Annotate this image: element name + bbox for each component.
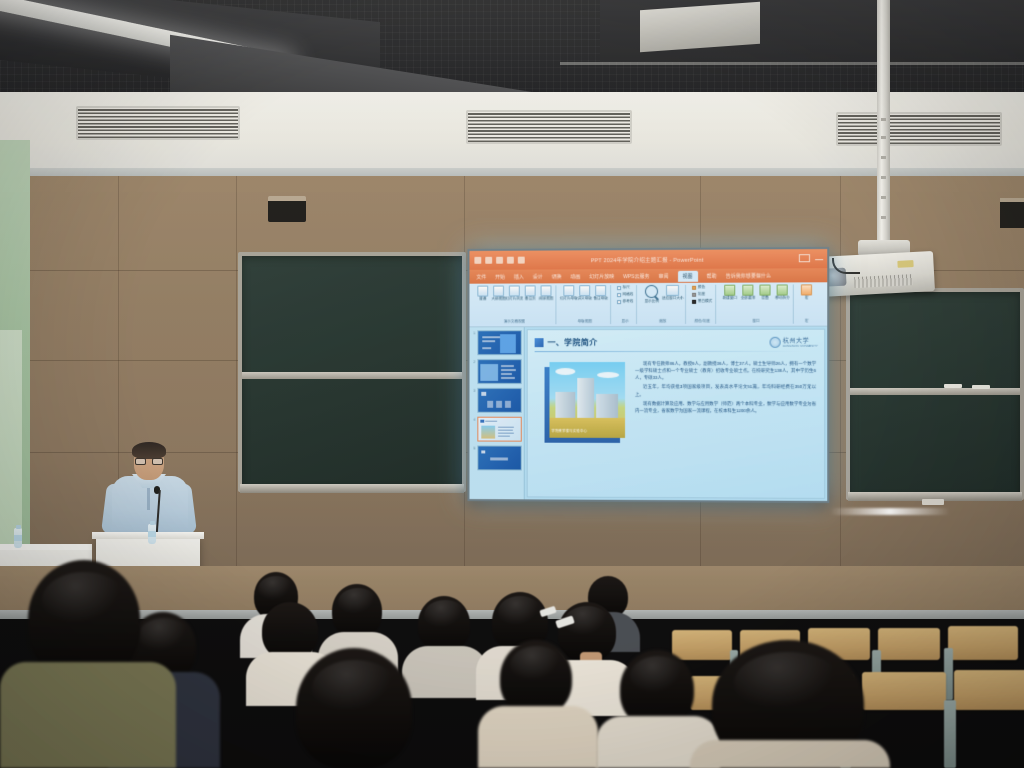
color-button[interactable]: 颜色 [692,285,705,290]
photo-caption: 学院教学楼与实验中心 [551,428,587,433]
building-tower-icon [577,378,594,418]
projector-mount-pole [877,0,890,246]
thumbnail-item[interactable]: 4 [471,417,521,442]
projector-vent-icon [854,274,912,288]
wall-speaker-right-icon [1000,198,1024,228]
macros-button[interactable]: 宏 [800,284,813,306]
outline-view-icon [493,286,504,297]
macro-icon [801,284,812,295]
campus-building-photo: 学院教学楼与实验中心 [549,362,625,438]
ppt-workspace: 1 2 [469,327,827,501]
current-slide[interactable]: 一、学院简介 杭州大学 HANGZHOU UNIVERSITY [527,329,826,499]
thumbnail-slide-5[interactable] [477,445,521,470]
lecture-hall-photo: PPT 2024年学院介绍主题汇报 - PowerPoint 文件 开始 插入 … [0,0,1024,768]
ribbon-group-label-window: 窗口 [752,319,759,324]
thumbnail-item[interactable]: 2 [471,359,521,384]
move-split-button[interactable]: 移动拆分 [775,284,790,306]
ppt-titlebar: PPT 2024年学院介绍主题汇报 - PowerPoint [469,249,827,270]
tab-transitions[interactable]: 切换 [552,273,562,280]
slide-sorter-icon [509,285,520,296]
tab-tell-me[interactable]: 告诉我你想要做什么 [726,272,771,279]
hvac-vent-left-icon [76,106,240,140]
ceiling-duct [640,2,760,52]
notes-master-button[interactable]: 备注母版 [594,285,607,307]
slide-title[interactable]: 一、学院简介 [535,337,598,348]
new-window-icon [724,285,735,296]
ribbon-group-presentation-views: 普通 大纲视图 幻灯片浏览 备注页 [473,285,556,324]
tab-insert[interactable]: 插入 [514,273,524,280]
thumbnail-slide-4[interactable] [477,417,521,442]
slide-paragraph-2: 近五年，年均获批3项国家级项目，发表高水平论文51篇，年均科研经费在350万元以… [635,383,816,397]
arrange-all-button[interactable]: 全部重排 [740,285,755,307]
hvac-vent-right-icon [836,112,1002,146]
grayscale-button[interactable]: 灰度 [692,292,705,297]
notes-master-icon [595,285,606,296]
tab-home[interactable]: 开始 [495,273,505,280]
blackwhite-button[interactable]: 黑白模式 [692,299,712,304]
slide-editing-area[interactable]: 一、学院简介 杭州大学 HANGZHOU UNIVERSITY [525,327,828,501]
tab-slideshow[interactable]: 幻灯片放映 [589,273,614,280]
presenter-glasses-icon [135,458,163,465]
gridlines-checkbox[interactable]: 网格线 [617,292,633,297]
ribbon-group-label-macros: 宏 [805,319,809,324]
seat[interactable] [948,626,1018,660]
move-split-icon [777,284,788,295]
slide-master-icon [563,285,574,296]
ribbon-group-label-zoom: 缩放 [659,319,666,324]
ribbon-group-color-grayscale: 颜色 灰度 黑白模式 颜色/灰度 [689,285,716,324]
slide-paragraph-3: 现有数据计算及应用、数学与应用数学（师范）两个本科专业，数学与应用数学专业为省内… [635,400,816,415]
slide-thumbnail-panel[interactable]: 1 2 [469,327,524,499]
ppt-window-title: PPT 2024年学院介绍主题汇报 - PowerPoint [469,255,827,265]
water-bottle-podium [148,524,156,544]
seat[interactable] [862,672,946,710]
ruler-checkbox[interactable]: 标尺 [617,285,630,290]
ribbon-group-macros: 宏 宏 [797,284,816,323]
close-icon[interactable] [815,259,823,260]
ppt-ribbon-tabs: 文件 开始 插入 设计 切换 动画 幻灯片放映 WPS云服务 审阅 视图 帮助 … [469,268,827,284]
projector-indicator-icon [897,260,913,268]
ribbon-group-label-presentation-views: 演示文稿视图 [504,319,525,324]
tab-help[interactable]: 帮助 [707,272,717,279]
building-right-icon [596,394,618,418]
wall-speaker-icon [268,196,306,222]
water-bottle-left [14,528,22,548]
cascade-button[interactable]: 层叠 [759,285,772,307]
tab-design[interactable]: 设计 [533,273,543,280]
view-sorter-button[interactable]: 幻灯片浏览 [508,285,521,307]
ribbon-group-master-views: 幻灯片母版 讲义母版 备注母版 母版视图 [559,285,611,324]
slide-photo[interactable]: 学院教学楼与实验中心 [549,362,625,438]
thumbnail-slide-2[interactable] [477,359,521,384]
ribbon-group-label-master-views: 母版视图 [578,319,592,324]
guides-checkbox[interactable]: 参考线 [617,299,633,304]
ribbon-group-zoom: 显示比例 适应窗口大小 缩放 [640,285,686,324]
tab-view[interactable]: 视图 [678,270,698,281]
university-name-en: HANGZHOU UNIVERSITY [783,345,818,348]
normal-view-icon [477,286,488,297]
color-icon [692,285,696,289]
university-seal-icon [770,336,781,347]
grayscale-icon [692,292,696,296]
restore-icon[interactable] [799,254,810,262]
tab-file[interactable]: 文件 [476,273,486,280]
slide-body-text[interactable]: 现有专任教师86人，教授9人，副教授36人，博士37人，硕士生导师26人，拥有一… [635,360,816,416]
chalkboard-right [846,288,1024,500]
ceiling-strip-light [830,508,950,515]
new-window-button[interactable]: 新建窗口 [722,285,737,307]
thumbnail-item[interactable]: 1 [471,330,521,355]
ceiling-trim-line [560,62,1024,65]
notes-page-icon [525,285,536,296]
fit-window-icon [666,285,679,296]
view-normal-button[interactable]: 普通 [476,286,489,308]
thumbnail-item[interactable]: 5 [471,445,521,470]
zoom-button[interactable]: 显示比例 [643,285,660,307]
checkbox-icon [617,300,621,304]
reading-view-icon [541,285,552,296]
seat[interactable] [878,628,940,660]
slide-title-underline [535,351,808,352]
ribbon-group-show: 标尺 网格线 参考线 显示 [614,285,637,324]
slide-master-button[interactable]: 幻灯片母版 [562,285,575,307]
ribbon-group-label-show: 显示 [622,319,629,324]
checkbox-icon [617,286,621,290]
slide-title-text: 一、学院简介 [547,337,597,348]
tab-review[interactable]: 审阅 [658,272,668,279]
hvac-vent-center-icon [466,110,632,144]
ribbon-group-label-color: 颜色/灰度 [695,319,710,324]
slide-paragraph-1: 现有专任教师86人，教授9人，副教授36人，博士37人，硕士生导师26人，拥有一… [635,360,816,382]
arrange-all-icon [742,285,753,296]
seat[interactable] [672,630,732,660]
checkbox-icon [617,293,621,297]
tab-wps-cloud[interactable]: WPS云服务 [623,272,649,279]
ribbon-group-window: 新建窗口 全部重排 层叠 移动拆分 窗口 [719,284,794,323]
fit-to-window-button[interactable]: 适应窗口大小 [663,285,682,307]
handout-master-icon [579,285,590,296]
projection-screen: PPT 2024年学院介绍主题汇报 - PowerPoint 文件 开始 插入 … [468,247,830,503]
title-bullet-icon [535,338,544,347]
thumbnail-item[interactable]: 3 [471,388,521,413]
building-left-icon [555,392,575,418]
thumbnail-slide-3[interactable] [477,388,521,413]
chalkboard-left [238,252,466,492]
view-notes-button[interactable]: 备注页 [524,285,537,307]
view-reading-button[interactable]: 阅读视图 [540,285,553,307]
tab-animations[interactable]: 动画 [570,273,580,280]
ppt-ribbon: 普通 大纲视图 幻灯片浏览 备注页 [469,282,827,327]
university-logo: 杭州大学 HANGZHOU UNIVERSITY [770,336,819,348]
cascade-icon [760,285,771,296]
view-outline-button[interactable]: 大纲视图 [492,286,505,308]
seat[interactable] [954,670,1024,710]
blackwhite-icon [692,299,696,303]
university-name-cn: 杭州大学 [783,336,818,345]
handout-master-button[interactable]: 讲义母版 [578,285,591,307]
presenter-hair [132,442,166,459]
thumbnail-slide-1[interactable] [477,330,521,355]
